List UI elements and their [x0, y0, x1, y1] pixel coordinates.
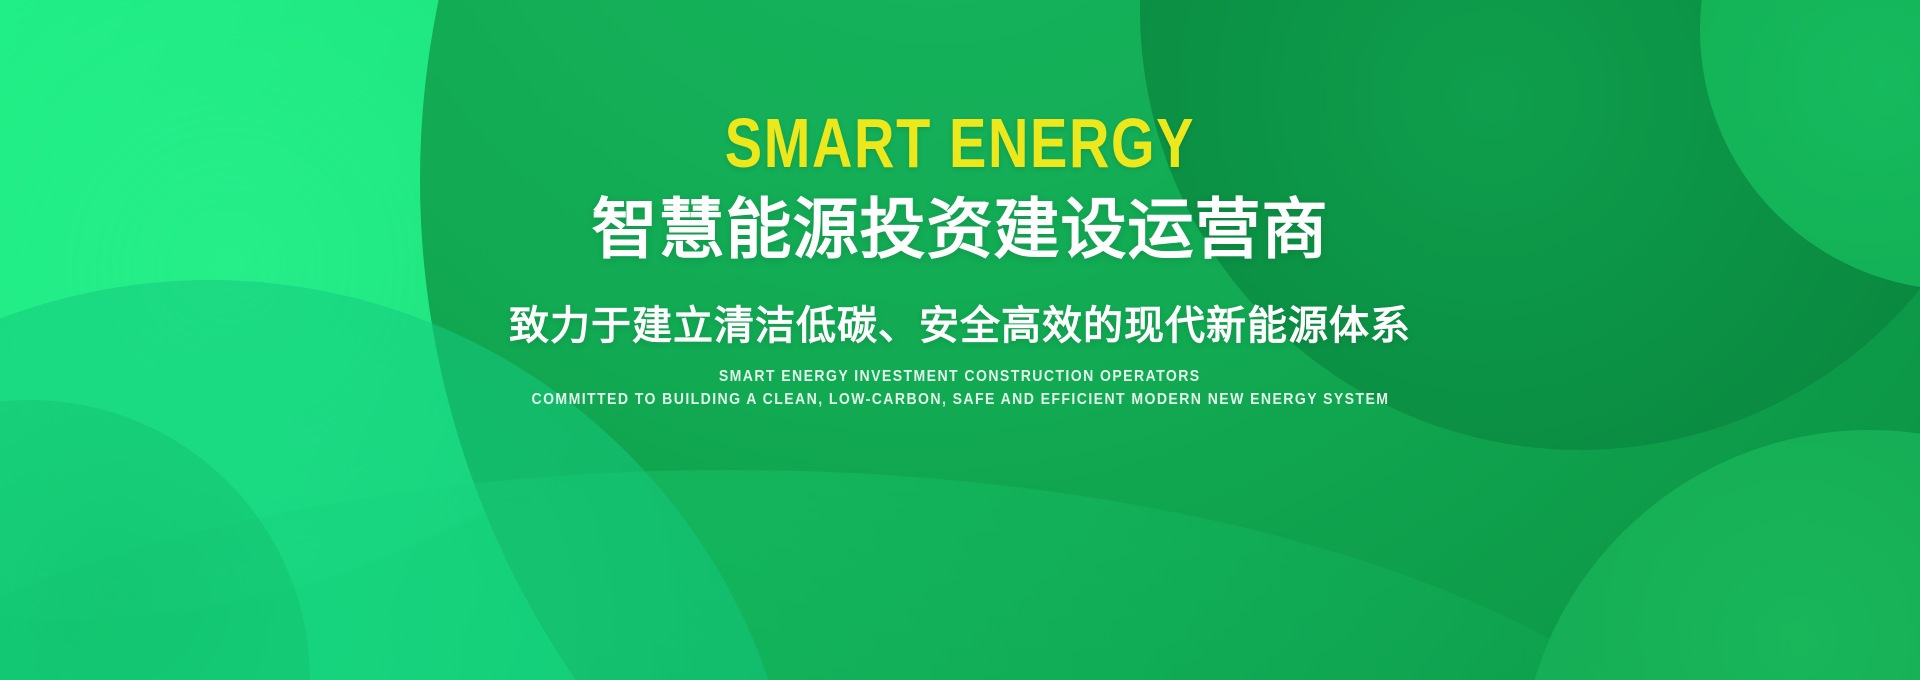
subtitle-english-line-2: COMMITTED TO BUILDING A CLEAN, LOW-CARBO… [531, 391, 1389, 409]
headline-english: SMART ENERGY [725, 108, 1195, 178]
headline-chinese: 智慧能源投资建设运营商 [592, 196, 1329, 262]
subtitle-english-line-1: SMART ENERGY INVESTMENT CONSTRUCTION OPE… [719, 368, 1201, 386]
subtitle-chinese: 致力于建立清洁低碳、安全高效的现代新能源体系 [509, 306, 1411, 346]
smart-energy-hero-banner: SMART ENERGY 智慧能源投资建设运营商 致力于建立清洁低碳、安全高效的… [0, 0, 1920, 680]
banner-content: SMART ENERGY 智慧能源投资建设运营商 致力于建立清洁低碳、安全高效的… [0, 0, 1920, 680]
subtitle-english-group: SMART ENERGY INVESTMENT CONSTRUCTION OPE… [473, 368, 1448, 408]
